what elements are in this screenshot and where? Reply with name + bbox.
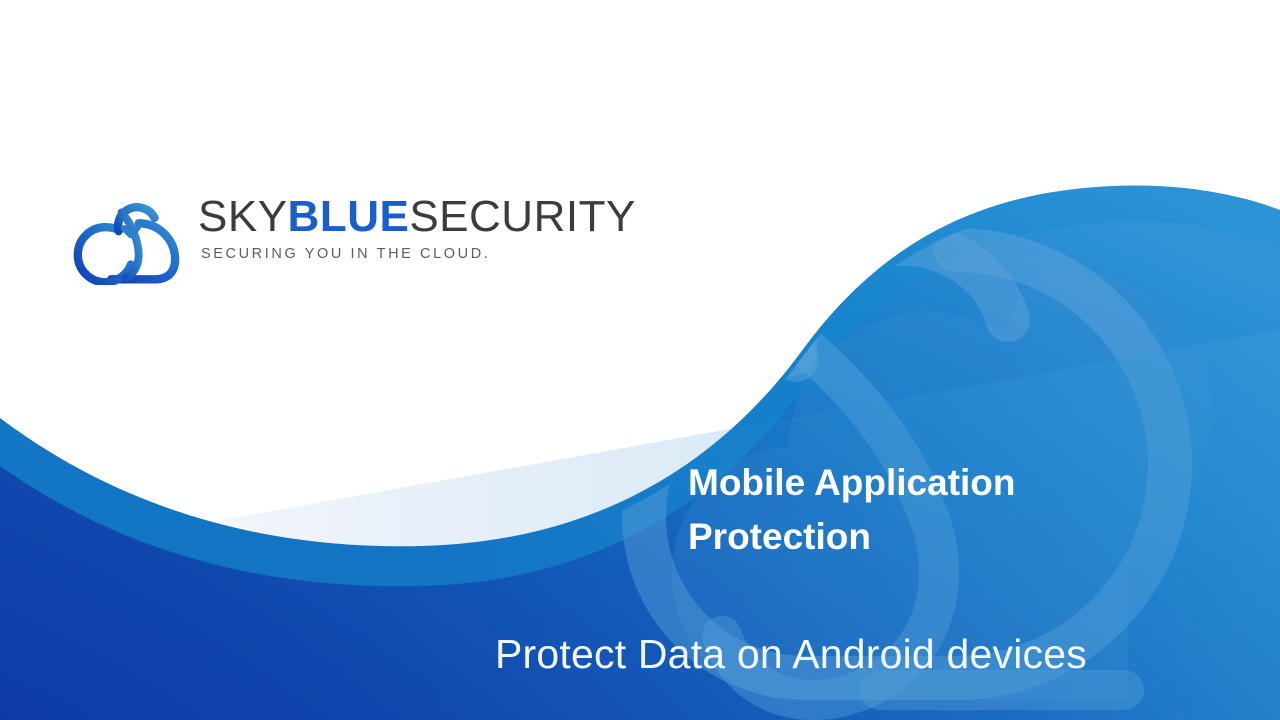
wave-background	[0, 0, 1280, 720]
slide-title: Mobile Application Protection	[688, 456, 1158, 564]
slide-subtitle: Protect Data on Android devices	[495, 626, 1255, 682]
cloud-infinity-icon	[66, 195, 184, 285]
brand-text-block: SKYBLUESECURITY SECURING YOU IN THE CLOU…	[198, 193, 636, 262]
wordmark-security: SECURITY	[409, 192, 635, 241]
wordmark-sky: SKY	[198, 192, 288, 241]
slide-canvas: SKYBLUESECURITY SECURING YOU IN THE CLOU…	[0, 0, 1280, 720]
brand-logo-lockup: SKYBLUESECURITY SECURING YOU IN THE CLOU…	[66, 193, 636, 285]
wordmark-blue: BLUE	[288, 192, 410, 241]
brand-tagline: SECURING YOU IN THE CLOUD.	[201, 246, 490, 262]
brand-wordmark: SKYBLUESECURITY	[198, 193, 636, 241]
